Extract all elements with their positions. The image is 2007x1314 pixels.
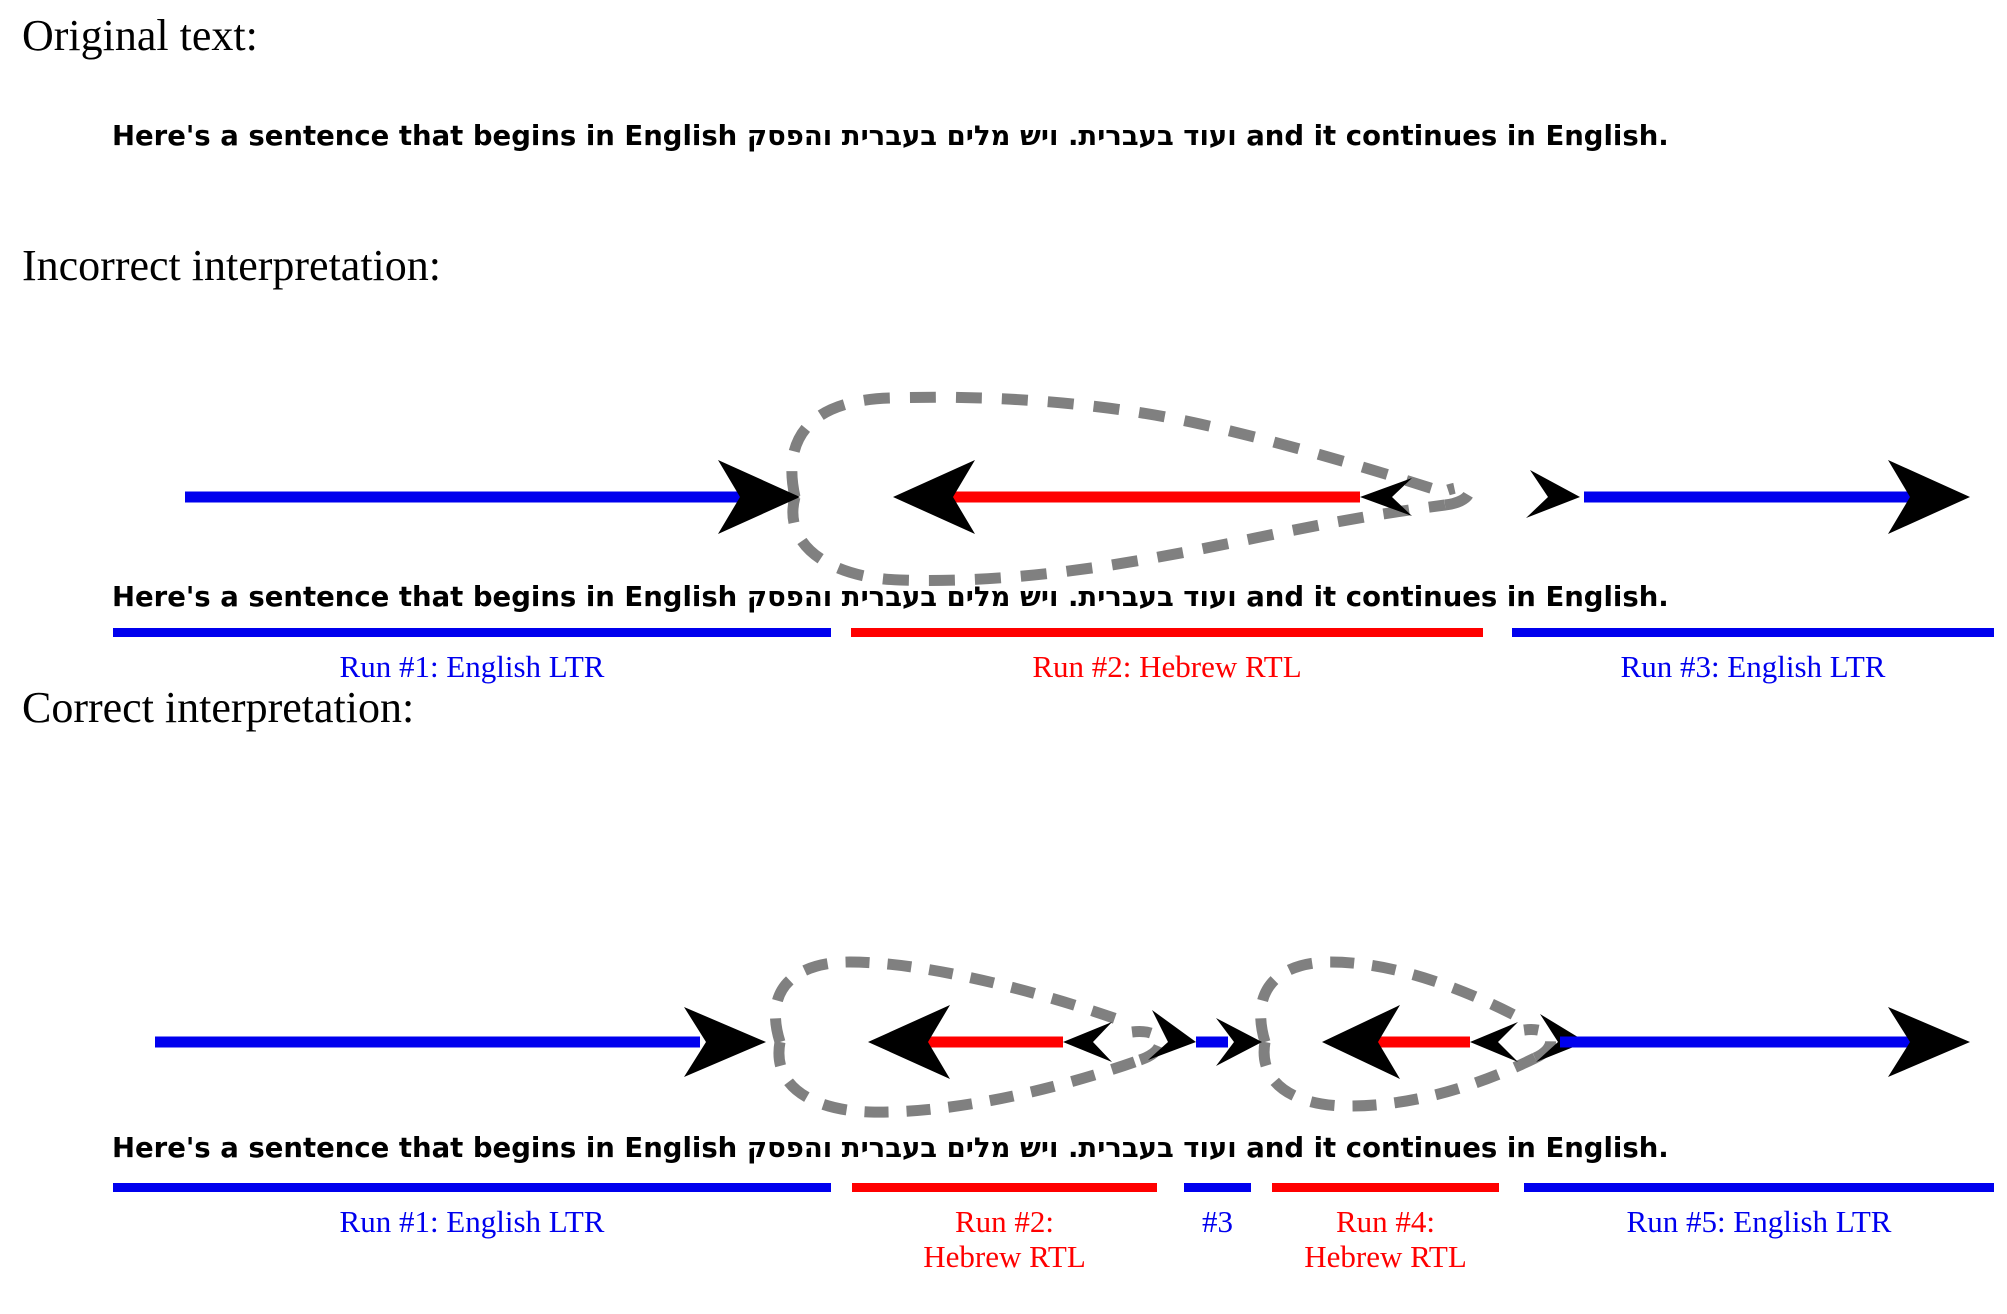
incorrect-sentence-hebrew: ועוד בעברית. ויש מלים בעברית והפסק: [747, 581, 1237, 613]
incorrect-sentence-english-trail: and it continues in English.: [1237, 581, 1669, 613]
incorrect-run1-arrowhead: [718, 460, 800, 534]
correct-run4-label: Run #4: Hebrew RTL: [1272, 1205, 1499, 1274]
correct-run4-tail-arrowhead: [1470, 1022, 1518, 1062]
correct-run5-entry-arrowhead: [1536, 1014, 1586, 1062]
incorrect-run3-entry-arrowhead: [1526, 470, 1580, 518]
correct-loop2-close: [1524, 1030, 1551, 1058]
correct-run2-label: Run #2: Hebrew RTL: [852, 1205, 1157, 1274]
correct-run2-tail-arrowhead: [1063, 1022, 1112, 1062]
correct-run4-arrowhead: [1322, 1005, 1400, 1079]
correct-run1-bar: [113, 1183, 831, 1192]
original-text-heading: Original text:: [22, 10, 258, 61]
incorrect-run1-label: Run #1: English LTR: [113, 650, 831, 685]
correct-run2-bar: [852, 1183, 1157, 1192]
correct-sentence-english-trail: and it continues in English.: [1237, 1132, 1669, 1164]
incorrect-loop-close: [1445, 487, 1469, 505]
correct-loop1-lower: [779, 1042, 1140, 1112]
incorrect-run3-label: Run #3: English LTR: [1512, 650, 1994, 685]
correct-loop1-close: [1132, 1032, 1160, 1060]
original-sentence: Here's a sentence that begins in English…: [112, 120, 1669, 152]
correct-run3-entry-arrowhead: [1148, 1010, 1196, 1060]
incorrect-loop-path: [792, 397, 1440, 497]
incorrect-interpretation-heading: Incorrect interpretation:: [22, 240, 441, 291]
correct-run5-label: Run #5: English LTR: [1524, 1205, 1994, 1240]
original-sentence-english-lead: Here's a sentence that begins in English: [112, 120, 747, 152]
incorrect-sentence-english-lead: Here's a sentence that begins in English: [112, 581, 747, 613]
correct-run5-arrowhead: [1888, 1007, 1970, 1077]
correct-run1-label: Run #1: English LTR: [113, 1205, 831, 1240]
original-sentence-english-trail: and it continues in English.: [1237, 120, 1669, 152]
correct-run1-arrowhead: [684, 1007, 766, 1077]
correct-run5-bar: [1524, 1183, 1994, 1192]
correct-run3-arrowhead: [1216, 1018, 1262, 1066]
incorrect-run2-label: Run #2: Hebrew RTL: [851, 650, 1483, 685]
correct-loop1-upper: [775, 962, 1125, 1042]
incorrect-sentence: Here's a sentence that begins in English…: [112, 581, 1669, 613]
correct-loop2-lower: [1264, 1042, 1535, 1106]
correct-run4-bar: [1272, 1183, 1499, 1192]
correct-run2-arrowhead: [868, 1005, 950, 1079]
correct-interpretation-heading: Correct interpretation:: [22, 682, 414, 733]
correct-sentence-hebrew: ועוד בעברית. ויש מלים בעברית והפסק: [747, 1132, 1237, 1164]
correct-sentence-english-lead: Here's a sentence that begins in English: [112, 1132, 747, 1164]
correct-loop2-upper: [1261, 962, 1520, 1042]
incorrect-run2-bar: [851, 628, 1483, 637]
incorrect-run2-tail-arrowhead: [1360, 478, 1412, 516]
incorrect-run2-arrowhead: [893, 460, 975, 534]
incorrect-run1-bar: [113, 628, 831, 637]
correct-run3-bar: [1184, 1183, 1251, 1192]
correct-run3-label: #3: [1184, 1205, 1251, 1240]
incorrect-loop-path-lower: [793, 497, 1445, 580]
correct-sentence: Here's a sentence that begins in English…: [112, 1132, 1669, 1164]
incorrect-run3-bar: [1512, 628, 1994, 637]
incorrect-run3-arrowhead: [1888, 460, 1970, 534]
original-sentence-hebrew: ועוד בעברית. ויש מלים בעברית והפסק: [747, 120, 1237, 152]
